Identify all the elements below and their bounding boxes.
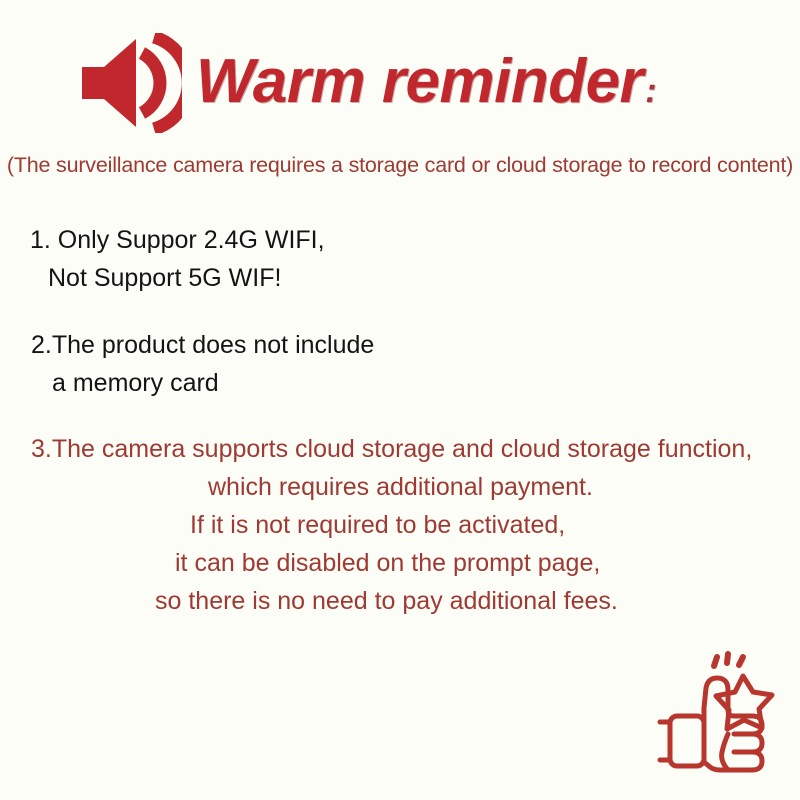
speaker-icon — [78, 33, 182, 133]
list-item-line: which requires additional payment. — [0, 468, 800, 506]
page-title: Warm reminder: — [196, 51, 656, 113]
list-item-3: 3.The camera supports cloud storage and … — [0, 430, 800, 620]
list-item-line: If it is not required to be activated, — [0, 506, 800, 544]
list-item-2: 2.The product does not include a memory … — [0, 326, 800, 402]
warm-reminder-notice: Warm reminder: (The surveillance camera … — [0, 0, 800, 800]
list-item-line: 3.The camera supports cloud storage and … — [0, 430, 800, 468]
thumbs-up-icon — [648, 648, 788, 783]
sparkle-dashes-icon — [714, 654, 743, 666]
list-item-line: 1. Only Suppor 2.4G WIFI, — [0, 221, 800, 259]
list-item-1: 1. Only Suppor 2.4G WIFI, Not Support 5G… — [0, 221, 800, 297]
list-item-line: Not Support 5G WIF! — [0, 259, 800, 297]
page-title-text: Warm reminder — [196, 47, 643, 116]
list-item-line: it can be disabled on the prompt page, — [0, 544, 800, 582]
list-item-line: so there is no need to pay additional fe… — [0, 582, 800, 620]
page-title-colon: : — [645, 72, 656, 110]
list-item-line: 2.The product does not include — [0, 326, 800, 364]
subtitle: (The surveillance camera requires a stor… — [0, 153, 800, 178]
list-item-line: a memory card — [0, 364, 800, 402]
header: Warm reminder: — [0, 22, 800, 142]
